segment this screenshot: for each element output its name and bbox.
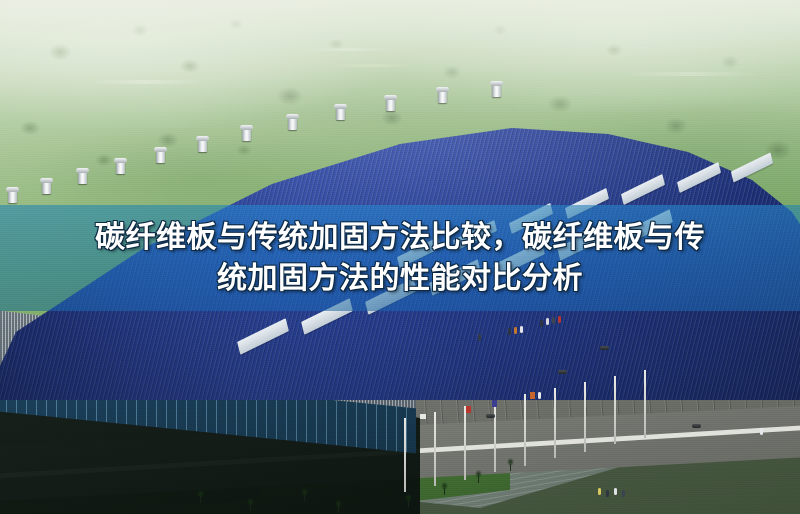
wall-sign bbox=[420, 414, 426, 419]
pedestrian bbox=[546, 318, 549, 325]
pedestrian bbox=[614, 488, 617, 495]
lawn-shrub bbox=[506, 458, 515, 471]
flagpole bbox=[524, 394, 526, 466]
pedestrian bbox=[760, 428, 763, 435]
roof-ventilator bbox=[42, 181, 51, 194]
pedestrian bbox=[508, 328, 511, 335]
pedestrian bbox=[538, 392, 541, 399]
hero-image: 碳纤维板与传统加固方法比较，碳纤维板与传 统加固方法的性能对比分析 bbox=[0, 0, 800, 514]
lawn-shrub bbox=[246, 498, 255, 511]
roof-ventilator bbox=[8, 190, 17, 203]
parked-car bbox=[486, 414, 495, 418]
pedestrian bbox=[478, 334, 481, 341]
lawn-shrub bbox=[474, 470, 483, 483]
pedestrian bbox=[552, 317, 555, 324]
pedestrian bbox=[540, 320, 543, 327]
roof-ventilator bbox=[438, 90, 447, 103]
pedestrian bbox=[558, 316, 561, 323]
lawn-shrub bbox=[440, 482, 449, 495]
lawn-shrub bbox=[334, 500, 343, 513]
roof-ventilator bbox=[288, 117, 297, 130]
parked-car bbox=[558, 370, 567, 374]
roof-ventilator bbox=[386, 98, 395, 111]
roof-ventilator bbox=[242, 128, 251, 141]
flagpole bbox=[494, 400, 496, 472]
flagpole bbox=[434, 412, 436, 486]
flagpole bbox=[554, 388, 556, 458]
roof-ventilator bbox=[336, 107, 345, 120]
roof-ventilator bbox=[116, 161, 125, 174]
roof-ventilator bbox=[156, 150, 165, 163]
pedestrian bbox=[514, 327, 517, 334]
wall-sign bbox=[492, 400, 497, 407]
flagpole bbox=[584, 382, 586, 452]
title-line-2: 统加固方法的性能对比分析 bbox=[20, 258, 780, 299]
wall-sign bbox=[530, 392, 535, 399]
page-title: 碳纤维板与传统加固方法比较，碳纤维板与传 统加固方法的性能对比分析 bbox=[20, 217, 780, 299]
pedestrian bbox=[598, 488, 601, 495]
title-overlay-band: 碳纤维板与传统加固方法比较，碳纤维板与传 统加固方法的性能对比分析 bbox=[0, 205, 800, 311]
parked-car bbox=[692, 424, 701, 428]
parked-car bbox=[600, 346, 609, 350]
flagpole bbox=[464, 406, 466, 480]
lawn-shrub bbox=[300, 488, 309, 501]
flagpole bbox=[644, 370, 646, 438]
title-line-1: 碳纤维板与传统加固方法比较，碳纤维板与传 bbox=[20, 217, 780, 258]
wall-sign bbox=[466, 406, 471, 413]
pedestrian bbox=[606, 490, 609, 497]
lawn-shrub bbox=[196, 490, 205, 503]
roof-ventilator bbox=[492, 84, 501, 97]
pedestrian bbox=[622, 490, 625, 497]
lawn-shrub bbox=[404, 494, 413, 507]
flagpole bbox=[614, 376, 616, 444]
roof-ventilator bbox=[78, 171, 87, 184]
pedestrian bbox=[520, 326, 523, 333]
roof-ventilator bbox=[198, 139, 207, 152]
flagpole bbox=[404, 418, 406, 492]
